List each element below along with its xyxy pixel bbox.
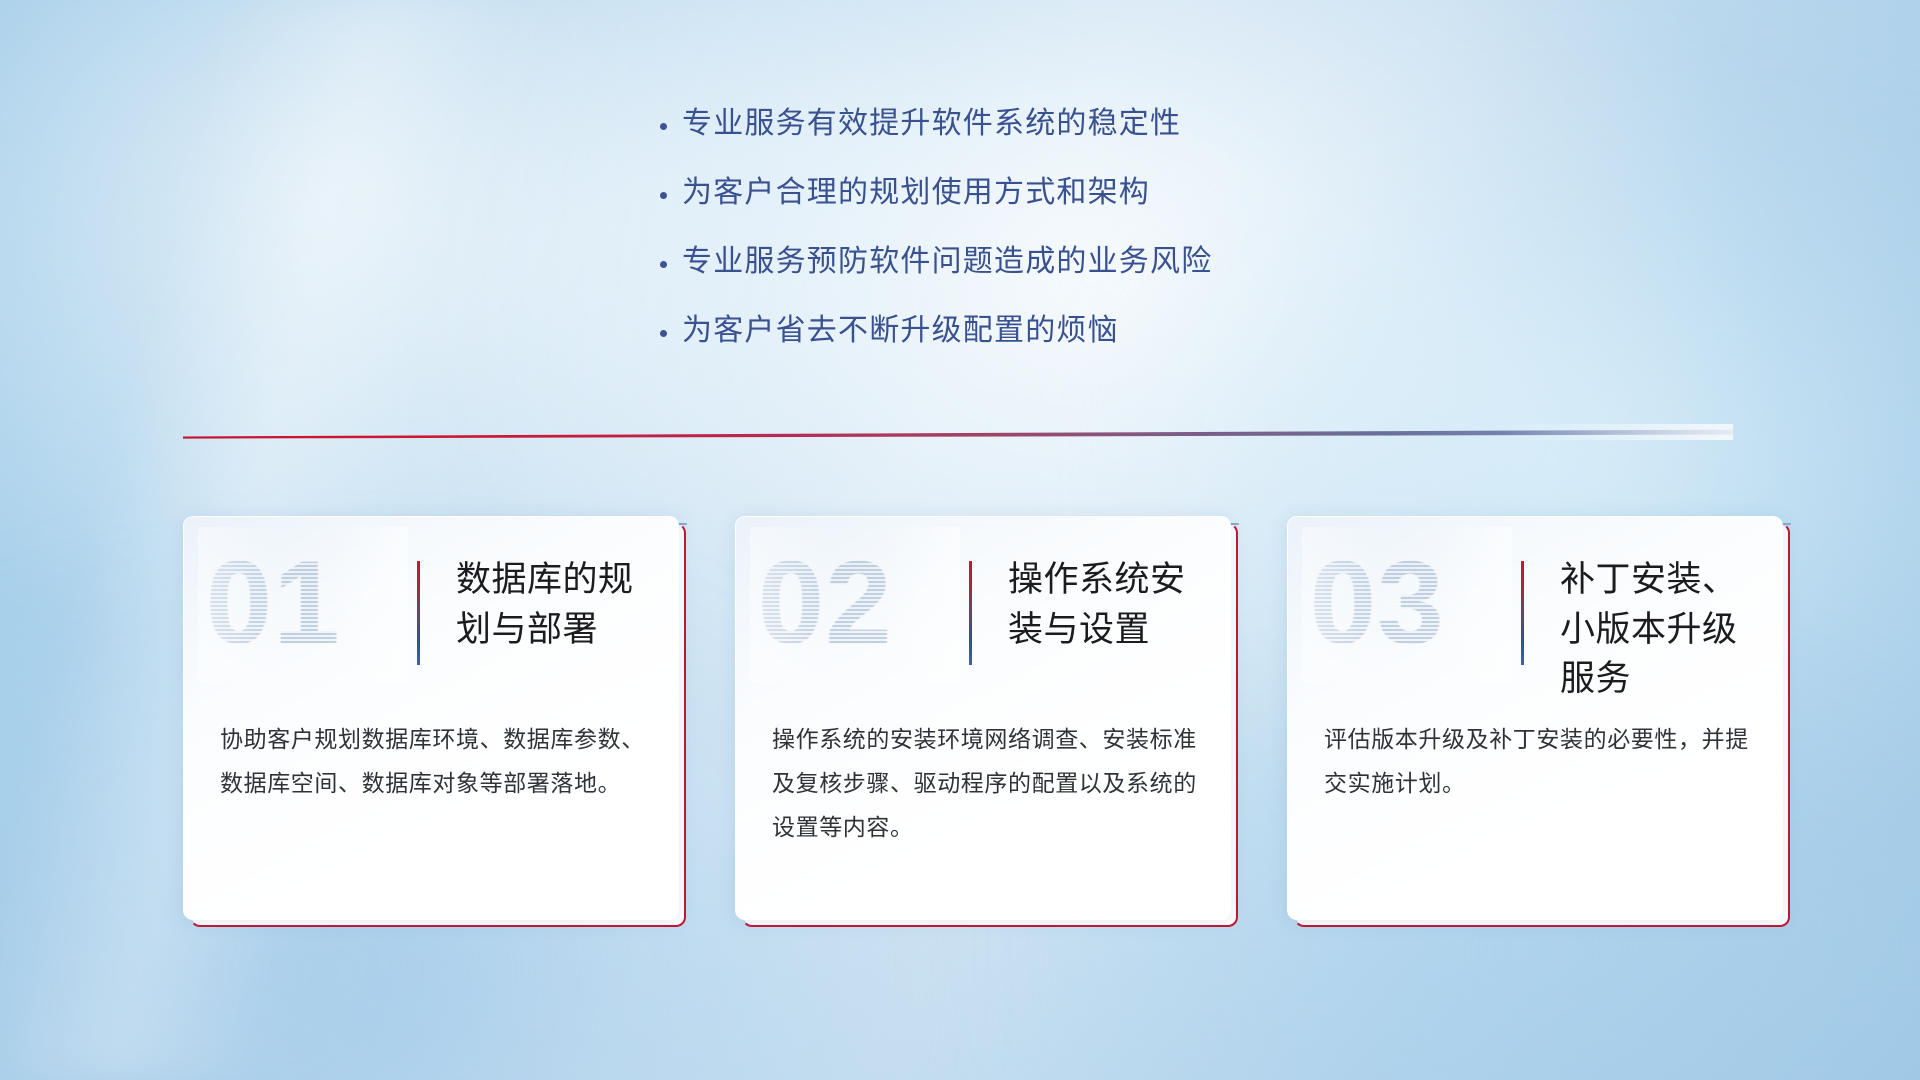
list-item-label: 专业服务预防软件问题造成的业务风险 (682, 244, 1212, 280)
list-item: 专业服务有效提升软件系统的稳定性 (660, 106, 1560, 142)
card-surface: 03 补丁安装、小版本升级服务 评估版本升级及补丁安装的必要性，并提交实施计划。 (1287, 516, 1783, 920)
bullet-point-icon (660, 123, 682, 130)
benefits-bullet-list: 专业服务有效提升软件系统的稳定性 为客户合理的规划使用方式和架构 专业服务预防软… (660, 106, 1560, 382)
card-description: 协助客户规划数据库环境、数据库参数、数据库空间、数据库对象等部署落地。 (220, 717, 648, 805)
section-divider (183, 424, 1733, 440)
service-card-list: 01 数据库的规划与部署 协助客户规划数据库环境、数据库参数、数据库空间、数据库… (183, 516, 1783, 920)
bullet-point-icon (660, 192, 682, 199)
card-number-watermark: 02 (758, 533, 950, 673)
bullet-point-icon (660, 330, 682, 337)
bullet-point-icon (660, 261, 682, 268)
card-number-watermark: 01 (206, 533, 398, 673)
list-item-label: 为客户合理的规划使用方式和架构 (682, 175, 1150, 211)
card-surface: 02 操作系统安装与设置 操作系统的安装环境网络调查、安装标准及复核步骤、驱动程… (735, 516, 1231, 920)
card-number-watermark: 03 (1310, 533, 1502, 673)
card-surface: 01 数据库的规划与部署 协助客户规划数据库环境、数据库参数、数据库空间、数据库… (183, 516, 679, 920)
list-item: 为客户合理的规划使用方式和架构 (660, 175, 1560, 211)
service-card-03[interactable]: 03 补丁安装、小版本升级服务 评估版本升级及补丁安装的必要性，并提交实施计划。 (1287, 516, 1783, 920)
service-card-02[interactable]: 02 操作系统安装与设置 操作系统的安装环境网络调查、安装标准及复核步骤、驱动程… (735, 516, 1231, 920)
card-header: 02 操作系统安装与设置 (736, 517, 1230, 703)
card-title: 补丁安装、小版本升级服务 (1560, 555, 1758, 704)
card-title: 数据库的规划与部署 (456, 555, 654, 654)
card-description: 操作系统的安装环境网络调查、安装标准及复核步骤、驱动程序的配置以及系统的设置等内… (772, 717, 1200, 849)
card-header: 03 补丁安装、小版本升级服务 (1288, 517, 1782, 703)
service-card-01[interactable]: 01 数据库的规划与部署 协助客户规划数据库环境、数据库参数、数据库空间、数据库… (183, 516, 679, 920)
list-item-label: 专业服务有效提升软件系统的稳定性 (682, 106, 1181, 142)
list-item-label: 为客户省去不断升级配置的烦恼 (682, 313, 1119, 349)
card-header: 01 数据库的规划与部署 (184, 517, 678, 703)
card-title-accent-bar (969, 561, 972, 665)
card-title: 操作系统安装与设置 (1008, 555, 1206, 654)
list-item: 为客户省去不断升级配置的烦恼 (660, 313, 1560, 349)
card-title-accent-bar (417, 561, 420, 665)
card-title-accent-bar (1521, 561, 1524, 665)
tapered-divider-shape (183, 424, 1733, 440)
card-description: 评估版本升级及补丁安装的必要性，并提交实施计划。 (1324, 717, 1752, 805)
list-item: 专业服务预防软件问题造成的业务风险 (660, 244, 1560, 280)
